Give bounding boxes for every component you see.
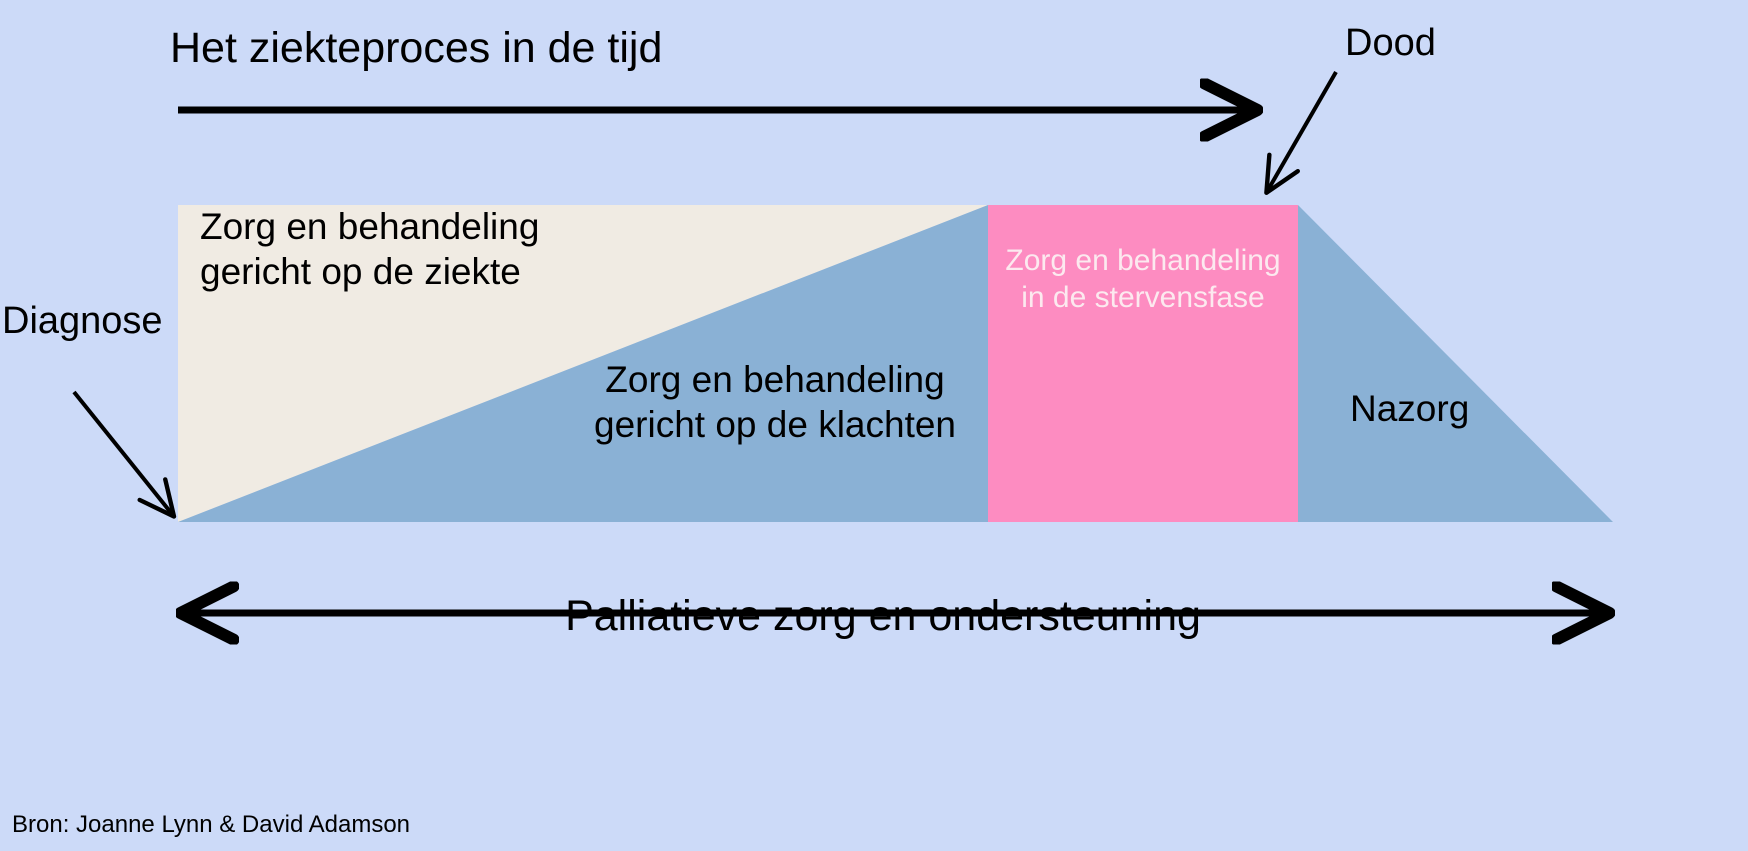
symptom-care-label: Zorg en behandeling gericht op de klacht…	[594, 357, 956, 447]
aftercare-region	[1298, 205, 1613, 522]
death-callout-label: Dood	[1345, 20, 1436, 66]
death-pointer-arrow	[1268, 72, 1336, 190]
dying-phase-care-label: Zorg en behandeling in de stervensfase	[1005, 243, 1280, 316]
page-title: Het ziekteproces in de tijd	[170, 22, 662, 74]
palliative-support-label: Palliatieve zorg en ondersteuning	[565, 590, 1201, 642]
source-credit-label: Bron: Joanne Lynn & David Adamson	[12, 810, 410, 839]
diagram-canvas: Het ziekteproces in de tijd Dood Diagnos…	[0, 0, 1748, 851]
disease-care-label: Zorg en behandeling gericht op de ziekte	[200, 204, 539, 294]
diagnosis-callout-label: Diagnose	[2, 298, 163, 344]
aftercare-label: Nazorg	[1350, 386, 1469, 431]
diagnosis-pointer-arrow	[74, 392, 172, 514]
